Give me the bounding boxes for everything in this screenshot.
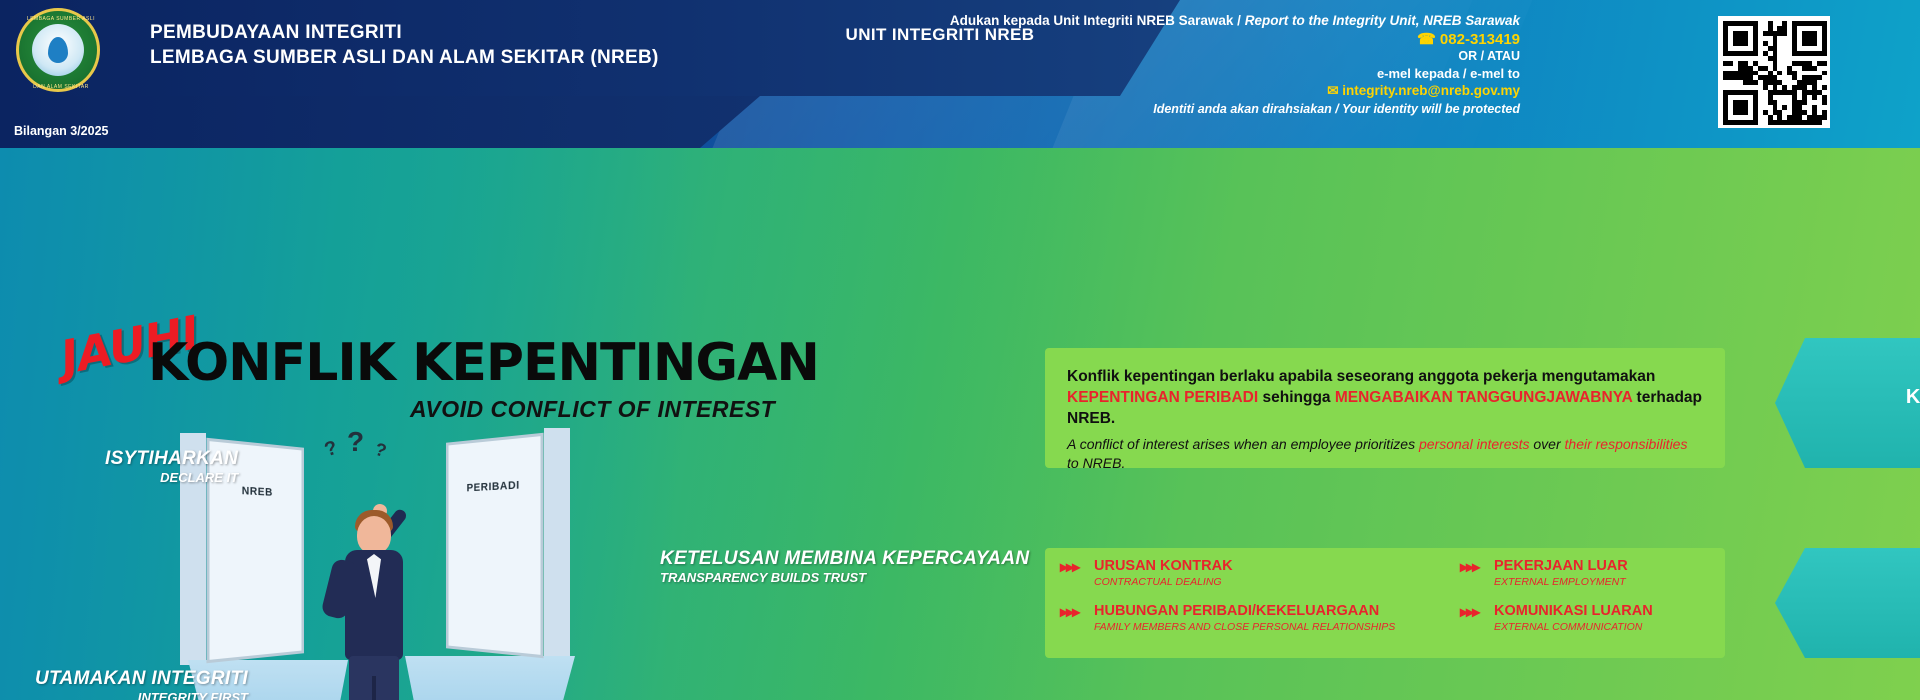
report-line-bm: Adukan kepada Unit Integriti NREB Sarawa…	[950, 13, 1241, 28]
arrows-icon: ▸▸▸	[1060, 558, 1086, 575]
example-family-bm: HUBUNGAN PERIBADI/KEKELUARGAAN	[1094, 603, 1395, 620]
logo-top-text: LEMBAGA SUMBER ASLI	[27, 16, 95, 22]
org-title-line1: PEMBUDAYAAN INTEGRITI	[150, 20, 659, 45]
arrows-icon: ▸▸▸	[1460, 603, 1486, 620]
tag-declare-bm: ISYTIHARKAN	[105, 448, 238, 470]
tag-transparency-bm: KETELUSAN MEMBINA KEPERCAYAAN	[660, 548, 1029, 570]
definition-bm: Konflik kepentingan berlaku apabila sese…	[1067, 366, 1703, 429]
example-family-en: FAMILY MEMBERS AND CLOSE PERSONAL RELATI…	[1094, 621, 1395, 634]
logo-ring-text: LEMBAGA SUMBER ASLI DAN ALAM SEKITAR	[19, 11, 103, 95]
page-header: LEMBAGA SUMBER ASLI DAN ALAM SEKITAR PEM…	[0, 0, 1920, 148]
question-mark-2: ?	[347, 426, 364, 458]
question-mark-3: ?	[372, 439, 388, 462]
tag-integrity-first-bm: UTAMAKAN INTEGRITI	[35, 668, 248, 690]
chevron-definition-title-l2: Konflik	[1906, 360, 1920, 385]
definition-en: A conflict of interest arises when an em…	[1067, 435, 1703, 473]
or-text: OR / ATAU	[760, 48, 1520, 65]
tag-transparency: KETELUSAN MEMBINA KEPERCAYAAN TRANSPAREN…	[660, 548, 1029, 585]
confidentiality-note: Identiti anda akan dirahsiakan / Your id…	[760, 101, 1520, 118]
email-address: integrity.nreb@nreb.gov.my	[1342, 83, 1520, 98]
definition-bm-red1: KEPENTINGAN PERIBADI	[1067, 389, 1258, 406]
person-legs	[349, 656, 399, 700]
definition-en-part2: over	[1530, 436, 1565, 452]
chevron-definition-title-l3: Kepentingan	[1906, 385, 1920, 410]
tag-transparency-en: TRANSPARENCY BUILDS TRUST	[660, 570, 1029, 585]
question-mark-1: ?	[322, 437, 341, 463]
arrows-icon: ▸▸▸	[1460, 558, 1486, 575]
poster-body: JAUHI KONFLIK KEPENTINGAN AVOID CONFLICT…	[0, 148, 1920, 700]
example-communication-en: EXTERNAL COMMUNICATION	[1494, 621, 1653, 634]
panel-definition-text: Konflik kepentingan berlaku apabila sese…	[1045, 348, 1725, 491]
door-peribadi-label: PERIBADI	[449, 478, 541, 495]
examples-grid: ▸▸▸ URUSAN KONTRAK CONTRACTUAL DEALING ▸…	[1060, 558, 1710, 634]
phone-icon: ☎	[1417, 31, 1436, 48]
example-item-communication: ▸▸▸ KOMUNIKASI LUARAN EXTERNAL COMMUNICA…	[1460, 603, 1710, 634]
door-frame-right	[544, 428, 570, 660]
person-illustration	[315, 468, 435, 700]
definition-en-part1: A conflict of interest arises when an em…	[1067, 436, 1419, 452]
definition-bm-part1: Konflik kepentingan berlaku apabila sese…	[1067, 368, 1655, 385]
tag-integrity-first: UTAMAKAN INTEGRITI INTEGRITY FIRST	[35, 668, 248, 700]
email-row[interactable]: ✉ integrity.nreb@nreb.gov.my	[760, 82, 1520, 99]
issue-number: Bilangan 3/2025	[14, 124, 109, 138]
report-line-en: Report to the Integrity Unit, NREB Saraw…	[1245, 13, 1520, 28]
org-title: PEMBUDAYAAN INTEGRITI LEMBAGA SUMBER ASL…	[150, 20, 659, 70]
report-contact-block: Adukan kepada Unit Integriti NREB Sarawa…	[760, 12, 1520, 118]
example-item-external-employment: ▸▸▸ PEKERJAAN LUAR EXTERNAL EMPLOYMENT	[1460, 558, 1710, 589]
definition-en-red2: their responsibilities	[1565, 436, 1688, 452]
example-external-employment-bm: PEKERJAAN LUAR	[1494, 558, 1628, 575]
chevron-definition-title: Definisi Konflik Kepentingan	[1906, 335, 1920, 410]
nreb-logo: LEMBAGA SUMBER ASLI DAN ALAM SEKITAR	[16, 8, 100, 92]
tag-declare-en: DECLARE IT	[105, 470, 238, 485]
definition-bm-part2: sehingga	[1258, 389, 1335, 406]
person-head	[357, 516, 391, 554]
org-title-line2: LEMBAGA SUMBER ASLI DAN ALAM SEKITAR (NR…	[150, 45, 659, 70]
definition-bm-red2: MENGABAIKAN TANGGUNGJAWABNYA	[1335, 389, 1632, 406]
report-line: Adukan kepada Unit Integriti NREB Sarawa…	[760, 12, 1520, 29]
hero-subtitle: AVOID CONFLICT OF INTEREST	[410, 396, 775, 423]
example-contract-en: CONTRACTUAL DEALING	[1094, 576, 1233, 589]
tag-declare: ISYTIHARKAN DECLARE IT	[105, 448, 238, 485]
logo-bottom-text: DAN ALAM SEKITAR	[33, 84, 89, 90]
arrows-icon: ▸▸▸	[1060, 603, 1086, 620]
example-communication-bm: KOMUNIKASI LUARAN	[1494, 603, 1653, 620]
door-nreb-label: NREB	[209, 483, 301, 500]
header-navy-band-lower	[0, 96, 760, 148]
tag-integrity-first-en: INTEGRITY FIRST	[35, 690, 248, 700]
mail-icon: ✉	[1327, 83, 1338, 98]
phone-number: 082-313419	[1440, 31, 1520, 48]
example-item-contract: ▸▸▸ URUSAN KONTRAK CONTRACTUAL DEALING	[1060, 558, 1460, 589]
example-item-family: ▸▸▸ HUBUNGAN PERIBADI/KEKELUARGAAN FAMIL…	[1060, 603, 1460, 634]
chevron-examples: CONTOH EXAMPLE	[1775, 548, 1920, 658]
door-peribadi: PERIBADI	[446, 433, 544, 659]
chevron-definition-title-l1: Definisi	[1906, 335, 1920, 360]
panel-definition: Konflik kepentingan berlaku apabila sese…	[1045, 348, 1725, 468]
definition-en-red1: personal interests	[1419, 436, 1530, 452]
definition-en-part3: to NREB.	[1067, 455, 1125, 471]
hero-title: KONFLIK KEPENTINGAN	[148, 333, 819, 393]
example-external-employment-en: EXTERNAL EMPLOYMENT	[1494, 576, 1628, 589]
qr-code[interactable]	[1718, 16, 1830, 128]
qr-code-matrix	[1723, 21, 1827, 125]
phone-row[interactable]: ☎ 082-313419	[760, 31, 1520, 48]
example-contract-bm: URUSAN KONTRAK	[1094, 558, 1233, 575]
email-label: e-mel kepada / e-mel to	[760, 65, 1520, 82]
chevron-definition: Definisi Konflik Kepentingan Definition …	[1775, 338, 1920, 468]
